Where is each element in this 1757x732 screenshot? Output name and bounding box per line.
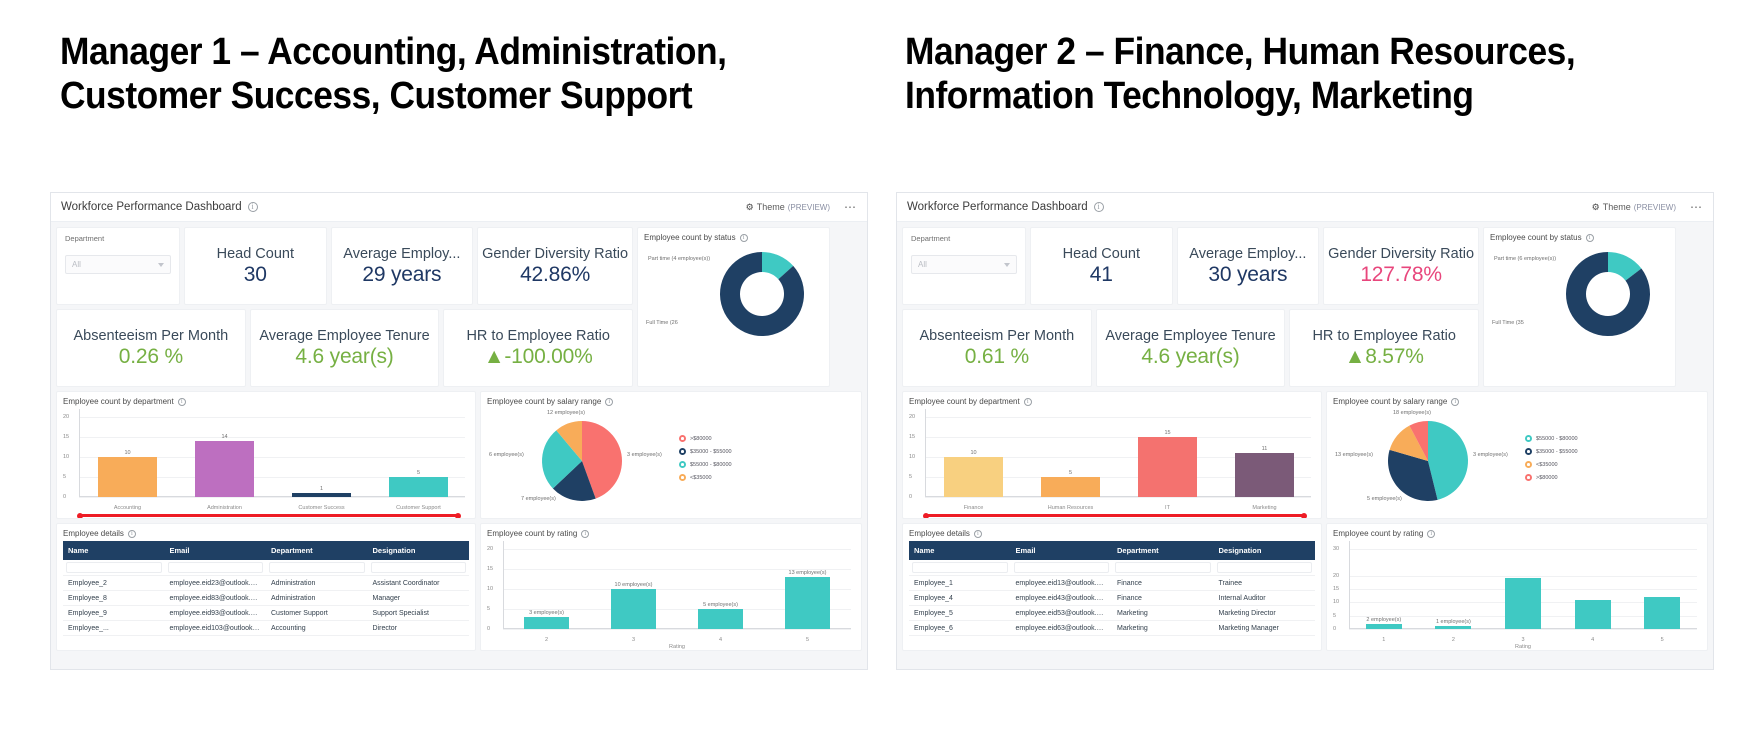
kpi-label: Average Employee Tenure [259, 328, 429, 344]
employee-details-title: Employee details i [63, 529, 469, 538]
legend-swatch-icon [1525, 474, 1532, 481]
page-title-manager-2: Manager 2 – Finance, Human Resources, In… [905, 30, 1649, 119]
kpi-label: HR to Employee Ratio [1312, 328, 1455, 344]
kpi-label: Absenteeism Per Month [919, 328, 1074, 344]
theme-label: Theme [1603, 202, 1631, 212]
bar-value-label: 1 [320, 486, 323, 492]
gridline [925, 437, 1311, 438]
table-cell-2: Finance [1112, 576, 1214, 591]
info-icon[interactable]: i [1586, 234, 1594, 242]
column-filter-input[interactable] [1014, 562, 1110, 573]
legend-swatch-icon [679, 474, 686, 481]
table-cell-1: employee.eid53@outlook.com [1011, 606, 1113, 621]
table-header-1[interactable]: Email [165, 541, 267, 560]
table-filter-row[interactable] [63, 560, 469, 576]
legend-label: <$35000 [690, 475, 712, 481]
salary-chart-title-text: Employee count by salary range [487, 397, 601, 406]
y-axis-tick: 5 [63, 474, 66, 480]
kpi-card-1-1[interactable]: Average Employ... 29 years [331, 227, 474, 305]
table-cell-2: Finance [1112, 591, 1214, 606]
bar-0[interactable] [98, 457, 156, 497]
legend-label: $35000 - $55000 [690, 449, 732, 455]
theme-button[interactable]: ⚙ Theme (PREVIEW) [1592, 202, 1676, 213]
bar-1[interactable] [1435, 626, 1471, 629]
table-cell-3: Support Specialist [368, 606, 470, 621]
theme-gear-icon: ⚙ [746, 202, 754, 213]
chevron-down-icon [1004, 263, 1010, 267]
donut-wrap: Part time (4 employee(s)) Full Time (26 [644, 242, 823, 356]
legend-label: $55000 - $80000 [1536, 436, 1578, 442]
kpi-card-1-1[interactable]: Average Employ... 30 years [1177, 227, 1320, 305]
theme-button[interactable]: ⚙ Theme (PREVIEW) [746, 202, 830, 213]
donut-label-fulltime: Full Time (26 [646, 320, 678, 326]
legend-label: $55000 - $80000 [690, 462, 732, 468]
x-axis-tick: Finance [964, 505, 984, 511]
employee-details-title: Employee details i [909, 529, 1315, 538]
pie-slice-note-1: 6 employee(s) [489, 452, 524, 458]
more-options-icon[interactable]: ⋯ [1682, 200, 1703, 214]
y-axis-tick: 20 [1333, 573, 1339, 579]
info-icon[interactable]: i [740, 234, 748, 242]
legend-item-2[interactable]: $55000 - $80000 [679, 461, 732, 468]
salary-chart-title-text: Employee count by salary range [1333, 397, 1447, 406]
department-select[interactable]: All [911, 255, 1017, 274]
y-axis-tick: 20 [909, 414, 915, 420]
table-cell-1: employee.eid83@outlook.com [165, 591, 267, 606]
legend-item-3[interactable]: >$80000 [1525, 474, 1578, 481]
table-cell-3: Marketing Manager [1214, 621, 1316, 636]
kpi-card-2-1[interactable]: Average Employee Tenure 4.6 year(s) [1096, 309, 1286, 387]
red-underline-annotation [79, 514, 459, 517]
kpi-value: 30 [244, 263, 267, 287]
column-filter-cell-0[interactable] [63, 560, 165, 576]
gridline [1349, 549, 1697, 550]
column-filter-input[interactable] [269, 562, 365, 573]
legend-label: >$80000 [1536, 475, 1558, 481]
status-chart-title-text: Employee count by status [1490, 233, 1582, 242]
department-chart-title: Employee count by department i [909, 397, 1315, 406]
dashboard-body: Department All Head Count 41 Average Emp… [897, 222, 1713, 669]
column-filter-input[interactable] [1115, 562, 1211, 573]
kpi-card-1-0[interactable]: Head Count 30 [184, 227, 327, 305]
rating-chart-card: Employee count by rating i 051015203 emp… [480, 523, 862, 651]
pie-slice-note-1: 13 employee(s) [1335, 452, 1373, 458]
table-cell-2: Administration [266, 591, 368, 606]
bar-value-label: 10 [970, 450, 976, 456]
department-chart-card: Employee count by department i 051015201… [902, 391, 1322, 519]
kpi-value: 30 years [1208, 263, 1287, 287]
donut-label-fulltime: Full Time (35 [1492, 320, 1524, 326]
y-axis-tick: 5 [1333, 613, 1336, 619]
info-icon[interactable]: i [248, 202, 258, 212]
column-filter-input[interactable] [912, 562, 1008, 573]
table-row[interactable]: Employee_8employee.eid83@outlook.comAdmi… [63, 591, 469, 606]
status-chart-title: Employee count by status i [1490, 233, 1669, 242]
gridline [79, 437, 465, 438]
table-cell-3: Manager [368, 591, 470, 606]
y-axis-tick: 20 [487, 546, 493, 552]
kpi-card-2-2[interactable]: HR to Employee Ratio ▲8.57% [1289, 309, 1479, 387]
column-filter-cell-1[interactable] [165, 560, 267, 576]
kpi-label: Head Count [217, 246, 294, 262]
kpi-card-1-2[interactable]: Gender Diversity Ratio 42.86% [477, 227, 633, 305]
kpi-value: ▲8.57% [1345, 345, 1424, 369]
bar-value-label: 3 employee(s) [529, 610, 564, 616]
bar-0[interactable] [944, 457, 1002, 497]
theme-preview-badge: (PREVIEW) [788, 203, 830, 212]
pie-area: 12 employee(s) 6 employee(s) 7 employee(… [487, 406, 855, 510]
kpi-label: Average Employee Tenure [1105, 328, 1275, 344]
salary-chart-title: Employee count by salary range i [487, 397, 855, 406]
column-filter-input[interactable] [1217, 562, 1313, 573]
department-chart-title-text: Employee count by department [909, 397, 1020, 406]
table-header-0[interactable]: Name [909, 541, 1011, 560]
y-axis [79, 409, 80, 497]
info-icon[interactable]: i [1451, 398, 1459, 406]
x-axis-label: Rating [669, 644, 685, 650]
bar-1[interactable] [195, 441, 253, 497]
table-cell-0: Employee_1 [909, 576, 1011, 591]
gridline [925, 417, 1311, 418]
x-axis-tick: 3 [1521, 637, 1524, 643]
salary-chart-card: Employee count by salary range i 12 empl… [480, 391, 862, 519]
dashboard-title: Workforce Performance Dashboard [61, 201, 242, 213]
legend-item-0[interactable]: >$80000 [679, 435, 732, 442]
table-header-3[interactable]: Designation [1214, 541, 1316, 560]
column-filter-input[interactable] [66, 562, 162, 573]
column-filter-cell-2[interactable] [1112, 560, 1214, 576]
table-header-0[interactable]: Name [63, 541, 165, 560]
table-cell-3: Director [368, 621, 470, 636]
bar-3[interactable] [1235, 453, 1293, 497]
bar-2[interactable] [1138, 437, 1196, 497]
bar-1[interactable] [1041, 477, 1099, 497]
legend-swatch-icon [679, 448, 686, 455]
donut-label-parttime: Part time (4 employee(s)) [648, 256, 710, 262]
bar-value-label: 14 [221, 434, 227, 440]
legend-label: >$80000 [690, 436, 712, 442]
table-cell-3: Assistant Coordinator [368, 576, 470, 591]
employee-details-title-text: Employee details [63, 529, 124, 538]
info-icon[interactable]: i [178, 398, 186, 406]
y-axis [503, 541, 504, 629]
x-axis-tick: 5 [806, 637, 809, 643]
x-axis-tick: 3 [632, 637, 635, 643]
y-axis [1349, 541, 1350, 629]
x-axis-tick: 4 [719, 637, 722, 643]
gridline [79, 497, 465, 498]
bar-value-label: 5 employee(s) [703, 602, 738, 608]
y-axis-tick: 20 [63, 414, 69, 420]
dashboard-manager-2: Workforce Performance Dashboard i ⚙ Them… [896, 192, 1714, 670]
y-axis-tick: 15 [487, 566, 493, 572]
table-filter-row[interactable] [909, 560, 1315, 576]
legend-item-1[interactable]: $35000 - $55000 [679, 448, 732, 455]
rating-bar-plot: 051015203 employee(s)210 employee(s)35 e… [487, 541, 855, 645]
table-cell-0: Employee_... [63, 621, 165, 636]
department-filter-label: Department [911, 234, 1017, 243]
salary-chart-card: Employee count by salary range i 18 empl… [1326, 391, 1708, 519]
kpi-value: 4.6 year(s) [1141, 345, 1239, 369]
gridline [79, 417, 465, 418]
x-axis-tick: Human Resources [1048, 505, 1094, 511]
legend-swatch-icon [1525, 461, 1532, 468]
pie-slice-note-0: 18 employee(s) [1393, 410, 1431, 416]
legend-item-2[interactable]: <$35000 [1525, 461, 1578, 468]
kpi-label: Absenteeism Per Month [73, 328, 228, 344]
bar-2[interactable] [698, 609, 743, 629]
kpi-card-1-2[interactable]: Gender Diversity Ratio 127.78% [1323, 227, 1479, 305]
table-row[interactable]: Employee_5employee.eid53@outlook.comMark… [909, 606, 1315, 621]
x-axis-tick: 2 [1452, 637, 1455, 643]
theme-label: Theme [757, 202, 785, 212]
x-axis-tick: 1 [1382, 637, 1385, 643]
x-axis-label: Rating [1515, 644, 1531, 650]
pie-slice-note-3: 3 employee(s) [1473, 452, 1508, 458]
table-row[interactable]: Employee_2employee.eid23@outlook.comAdmi… [63, 576, 469, 591]
legend-label: $35000 - $55000 [1536, 449, 1578, 455]
y-axis-tick: 15 [63, 434, 69, 440]
bar-2[interactable] [1505, 578, 1541, 629]
kpi-value: 41 [1090, 263, 1113, 287]
table-header-3[interactable]: Designation [368, 541, 470, 560]
legend-swatch-icon [1525, 435, 1532, 442]
kpi-value: 29 years [362, 263, 441, 287]
y-axis-tick: 5 [909, 474, 912, 480]
bar-value-label: 10 employee(s) [615, 582, 653, 588]
kpi-label: Gender Diversity Ratio [1328, 246, 1474, 262]
legend-item-3[interactable]: <$35000 [679, 474, 732, 481]
pie-slice-note-2: 7 employee(s) [521, 496, 556, 502]
info-icon[interactable]: i [1427, 530, 1435, 538]
y-axis-tick: 10 [63, 454, 69, 460]
table-row[interactable]: Employee_9employee.eid93@outlook.comCust… [63, 606, 469, 621]
bar-value-label: 15 [1164, 430, 1170, 436]
y-axis-tick: 15 [1333, 586, 1339, 592]
bar-value-label: 2 employee(s) [1366, 617, 1401, 623]
column-filter-cell-1[interactable] [1011, 560, 1113, 576]
table-cell-0: Employee_2 [63, 576, 165, 591]
y-axis-tick: 30 [1333, 546, 1339, 552]
red-underline-annotation [925, 514, 1305, 517]
bottom-zone: Employee details i NameEmailDepartmentDe… [902, 523, 1708, 651]
table-cell-3: Internal Auditor [1214, 591, 1316, 606]
table-row[interactable]: Employee_1employee.eid13@outlook.comFina… [909, 576, 1315, 591]
info-icon[interactable]: i [1024, 398, 1032, 406]
pie-svg-wrap: 12 employee(s) 6 employee(s) 7 employee(… [487, 406, 677, 510]
pie-svg [1333, 406, 1523, 510]
table-header-2[interactable]: Department [266, 541, 368, 560]
bar-value-label: 10 [124, 450, 130, 456]
page-title-manager-1: Manager 1 – Accounting, Administration, … [60, 30, 804, 119]
chart-zone: Employee count by department i 051015201… [902, 391, 1708, 519]
y-axis-tick: 0 [63, 494, 66, 500]
kpi-label: Average Employ... [343, 246, 460, 262]
kpi-value: ▲-100.00% [484, 345, 593, 369]
table-cell-2: Marketing [1112, 621, 1214, 636]
table-cell-2: Administration [266, 576, 368, 591]
kpi-row-2: Absenteeism Per Month 0.26 % Average Emp… [56, 309, 633, 387]
kpi-card-2-0[interactable]: Absenteeism Per Month 0.61 % [902, 309, 1092, 387]
table-cell-1: employee.eid23@outlook.com [165, 576, 267, 591]
kpi-grid: Department All Head Count 41 Average Emp… [902, 227, 1479, 387]
column-filter-cell-0[interactable] [909, 560, 1011, 576]
employee-details-table: NameEmailDepartmentDesignation Employee_… [909, 541, 1315, 636]
kpi-card-2-2[interactable]: HR to Employee Ratio ▲-100.00% [443, 309, 633, 387]
department-select-value: All [72, 260, 81, 269]
info-icon[interactable]: i [1094, 202, 1104, 212]
kpi-value: 4.6 year(s) [295, 345, 393, 369]
x-axis-tick: 4 [1591, 637, 1594, 643]
kpi-label: Average Employ... [1189, 246, 1306, 262]
table-row[interactable]: Employee_4employee.eid43@outlook.comFina… [909, 591, 1315, 606]
gridline [503, 629, 851, 630]
x-axis-tick: Customer Success [298, 505, 344, 511]
rating-chart-title: Employee count by rating i [487, 529, 855, 538]
column-filter-input[interactable] [168, 562, 264, 573]
kpi-grid: Department All Head Count 30 Average Emp… [56, 227, 633, 387]
chart-zone: Employee count by department i 051015201… [56, 391, 862, 519]
kpi-card-2-0[interactable]: Absenteeism Per Month 0.26 % [56, 309, 246, 387]
legend-swatch-icon [679, 461, 686, 468]
pie-svg-wrap: 18 employee(s) 13 employee(s) 5 employee… [1333, 406, 1523, 510]
department-bar-plot: 0510152010Finance5Human Resources15IT11M… [909, 409, 1315, 513]
pie-area: 18 employee(s) 13 employee(s) 5 employee… [1333, 406, 1701, 510]
bar-2[interactable] [292, 493, 350, 497]
kpi-label: Gender Diversity Ratio [482, 246, 628, 262]
table-header-2[interactable]: Department [1112, 541, 1214, 560]
column-filter-cell-2[interactable] [266, 560, 368, 576]
kpi-value: 127.78% [1360, 263, 1442, 287]
y-axis-tick: 10 [1333, 599, 1339, 605]
kpi-value: 42.86% [520, 263, 590, 287]
table-header-row: NameEmailDepartmentDesignation [63, 541, 469, 560]
bar-0[interactable] [524, 617, 569, 629]
info-icon[interactable]: i [605, 398, 613, 406]
pie-slice-note-0: 12 employee(s) [547, 410, 585, 416]
x-axis-tick: Customer Support [396, 505, 441, 511]
info-icon[interactable]: i [128, 530, 136, 538]
info-icon[interactable]: i [581, 530, 589, 538]
more-options-icon[interactable]: ⋯ [836, 200, 857, 214]
table-cell-0: Employee_5 [909, 606, 1011, 621]
column-filter-cell-3[interactable] [1214, 560, 1316, 576]
legend-item-1[interactable]: $35000 - $55000 [1525, 448, 1578, 455]
bar-value-label: 11 [1262, 446, 1268, 452]
kpi-card-1-0[interactable]: Head Count 41 [1030, 227, 1173, 305]
department-filter-label: Department [65, 234, 171, 243]
x-axis-tick: Marketing [1252, 505, 1276, 511]
x-axis-tick: Administration [207, 505, 242, 511]
bar-3[interactable] [1575, 600, 1611, 629]
rating-chart-card: Employee count by rating i 05101520302 e… [1326, 523, 1708, 651]
dashboard-body: Department All Head Count 30 Average Emp… [51, 222, 867, 669]
y-axis-tick: 0 [1333, 626, 1336, 632]
table-cell-2: Accounting [266, 621, 368, 636]
gridline [1349, 629, 1697, 630]
y-axis-tick: 0 [909, 494, 912, 500]
table-row[interactable]: Employee_...employee.eid103@outlook.comA… [63, 621, 469, 636]
x-axis-tick: 5 [1661, 637, 1664, 643]
salary-chart-title: Employee count by salary range i [1333, 397, 1701, 406]
pie-svg [487, 406, 677, 510]
employee-details-title-text: Employee details [909, 529, 970, 538]
employee-details-table: NameEmailDepartmentDesignation Employee_… [63, 541, 469, 636]
table-cell-3: Marketing Director [1214, 606, 1316, 621]
kpi-label: Head Count [1063, 246, 1140, 262]
legend-swatch-icon [679, 435, 686, 442]
kpi-value: 0.26 % [119, 345, 183, 369]
slide-canvas: Manager 1 – Accounting, Administration, … [0, 0, 1757, 732]
table-cell-2: Marketing [1112, 606, 1214, 621]
table-row[interactable]: Employee_6employee.eid63@outlook.comMark… [909, 621, 1315, 636]
kpi-value: 0.61 % [965, 345, 1029, 369]
y-axis-tick: 0 [487, 626, 490, 632]
bar-1[interactable] [611, 589, 656, 629]
pie-slice-note-2: 5 employee(s) [1367, 496, 1402, 502]
column-filter-cell-3[interactable] [368, 560, 470, 576]
column-filter-input[interactable] [371, 562, 467, 573]
x-axis-tick: Accounting [114, 505, 141, 511]
y-axis [925, 409, 926, 497]
department-bar-plot: 0510152010Accounting14Administration1Cus… [63, 409, 469, 513]
table-cell-3: Trainee [1214, 576, 1316, 591]
gridline [503, 549, 851, 550]
salary-legend: $55000 - $80000 $35000 - $55000 <$35000 … [1523, 435, 1578, 481]
department-filter-card[interactable]: Department All [56, 227, 180, 305]
bar-4[interactable] [1644, 597, 1680, 629]
table-cell-0: Employee_6 [909, 621, 1011, 636]
department-chart-title-text: Employee count by department [63, 397, 174, 406]
kpi-row-2: Absenteeism Per Month 0.61 % Average Emp… [902, 309, 1479, 387]
rating-chart-title-text: Employee count by rating [487, 529, 577, 538]
rating-chart-title: Employee count by rating i [1333, 529, 1701, 538]
info-icon[interactable]: i [974, 530, 982, 538]
dashboard-titlebar: Workforce Performance Dashboard i ⚙ Them… [51, 193, 867, 222]
kpi-zone: Department All Head Count 41 Average Emp… [902, 227, 1708, 387]
table-header-1[interactable]: Email [1011, 541, 1113, 560]
salary-legend: >$80000 $35000 - $55000 $55000 - $80000 … [677, 435, 732, 481]
department-chart-card: Employee count by department i 051015201… [56, 391, 476, 519]
bottom-zone: Employee details i NameEmailDepartmentDe… [56, 523, 862, 651]
table-cell-1: employee.eid93@outlook.com [165, 606, 267, 621]
table-cell-1: employee.eid13@outlook.com [1011, 576, 1113, 591]
kpi-label: HR to Employee Ratio [466, 328, 609, 344]
bar-3[interactable] [785, 577, 830, 629]
department-select[interactable]: All [65, 255, 171, 274]
kpi-card-2-1[interactable]: Average Employee Tenure 4.6 year(s) [250, 309, 440, 387]
table-cell-1: employee.eid103@outlook.com [165, 621, 267, 636]
bar-0[interactable] [1366, 624, 1402, 629]
legend-swatch-icon [1525, 448, 1532, 455]
table-cell-1: employee.eid43@outlook.com [1011, 591, 1113, 606]
bar-3[interactable] [389, 477, 447, 497]
rating-bar-plot: 05101520302 employee(s)11 employee(s)234… [1333, 541, 1701, 645]
table-cell-1: employee.eid63@outlook.com [1011, 621, 1113, 636]
status-chart-card: Employee count by status i Part time (6 … [1483, 227, 1676, 387]
department-select-value: All [918, 260, 927, 269]
bar-value-label: 5 [417, 470, 420, 476]
status-chart-title: Employee count by status i [644, 233, 823, 242]
kpi-row-1: Department All Head Count 30 Average Emp… [56, 227, 633, 305]
x-axis-tick: IT [1165, 505, 1170, 511]
department-filter-card[interactable]: Department All [902, 227, 1026, 305]
y-axis-tick: 5 [487, 606, 490, 612]
legend-item-0[interactable]: $55000 - $80000 [1525, 435, 1578, 442]
y-axis-tick: 10 [487, 586, 493, 592]
kpi-zone: Department All Head Count 30 Average Emp… [56, 227, 862, 387]
donut-wrap: Part time (6 employee(s)) Full Time (35 [1490, 242, 1669, 356]
